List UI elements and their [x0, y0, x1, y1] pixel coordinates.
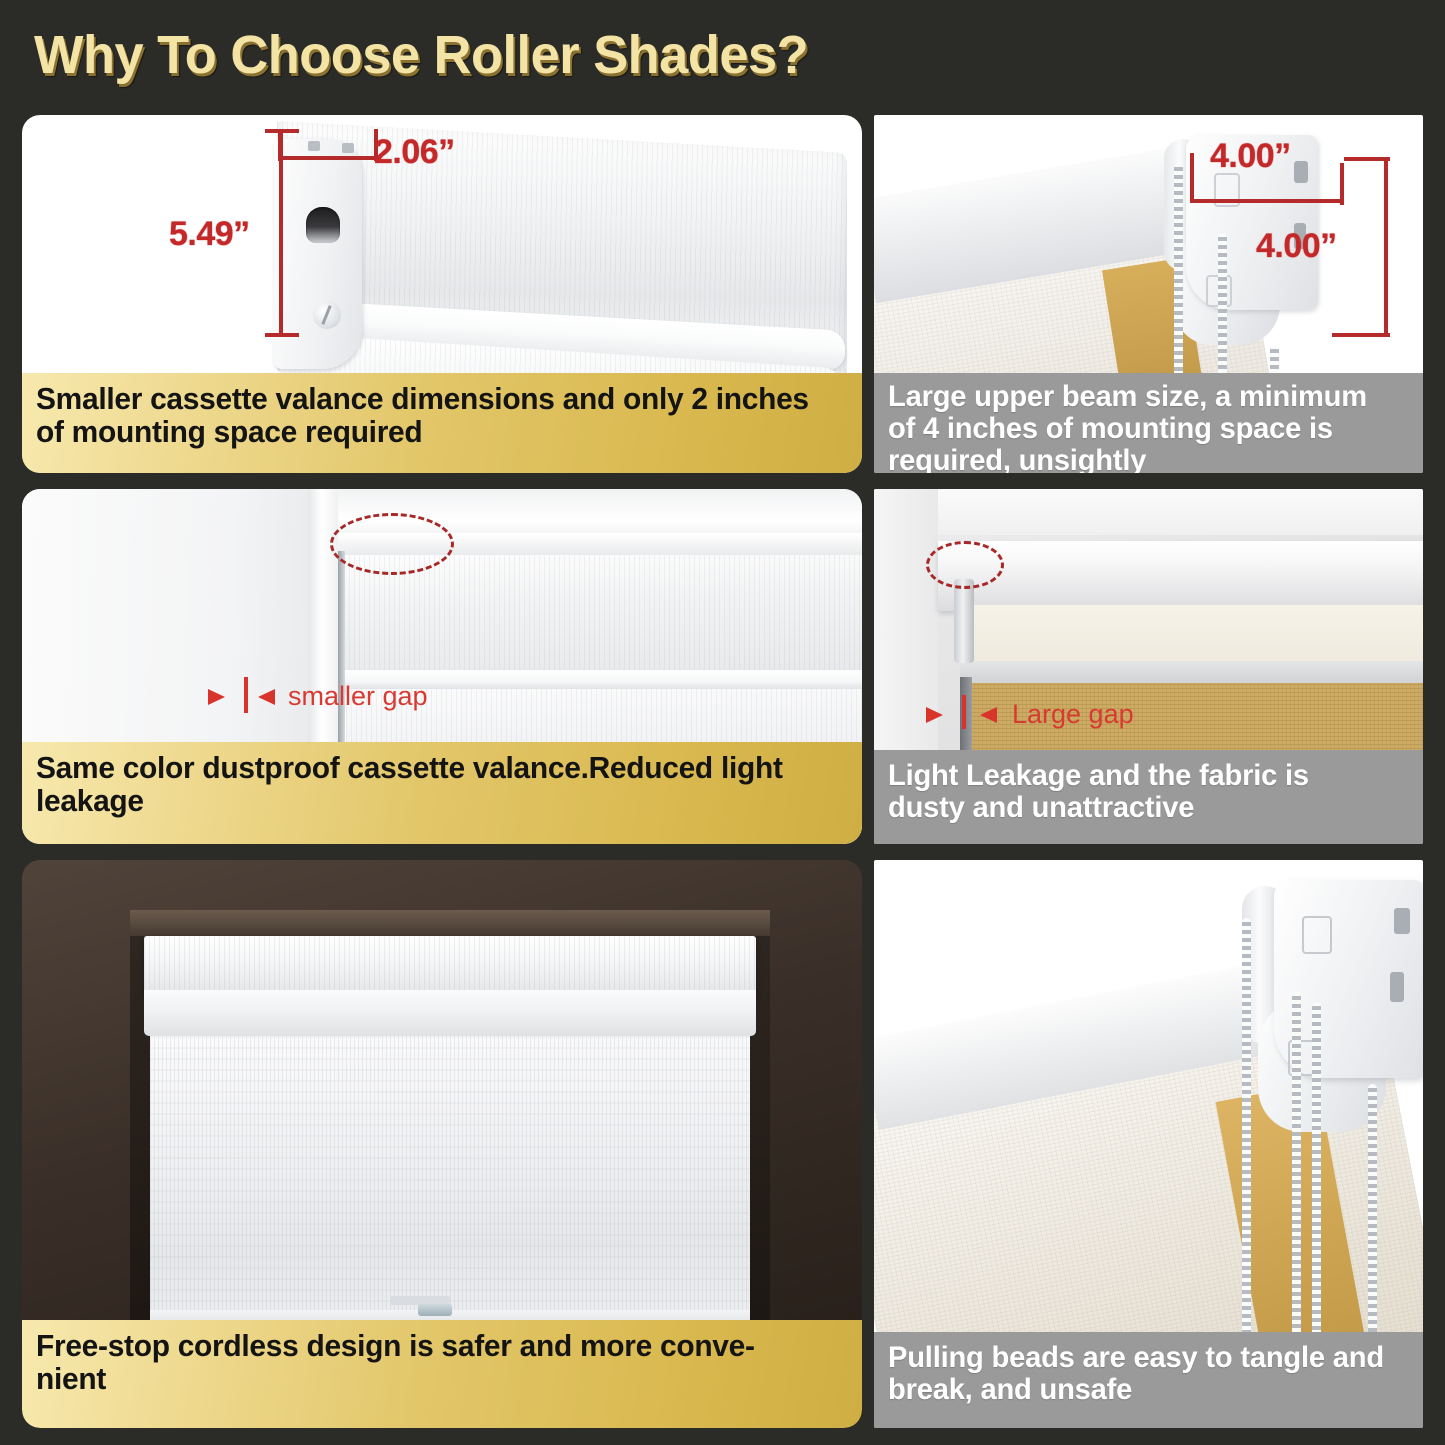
height-tick-top — [265, 129, 299, 133]
gap-arrow-right — [980, 707, 997, 723]
gap-arrow-left — [926, 707, 943, 723]
beam-width-tick-left — [1190, 153, 1194, 203]
gap-highlight-circle — [926, 541, 1004, 589]
gap-measure-bar — [244, 677, 248, 713]
gap-arrow-left — [208, 689, 225, 705]
beam-height-tick-bottom — [1332, 333, 1390, 337]
beam-width-line — [1192, 199, 1344, 203]
panel-pulling-beads[interactable]: Pulling beads are easy to tangle and bre… — [874, 860, 1423, 1428]
panel-free-stop-cordless[interactable]: Free-stop cordless design is safer and m… — [22, 860, 862, 1428]
height-tick-bottom — [265, 333, 299, 337]
panel-5-caption: Free-stop cordless design is safer and m… — [22, 1320, 862, 1428]
panel-2-caption-text: Large upper beam size, a minimum of 4 in… — [888, 381, 1393, 473]
panel-dustproof-cassette-valance[interactable]: smaller gap Same color dustproof cassett… — [22, 489, 862, 844]
gap-arrow-right — [258, 689, 275, 705]
beam-width-tick-right — [1340, 163, 1344, 205]
beam-height-line — [1384, 159, 1388, 337]
panel-1-caption-text: Smaller cassette valance dimensions and … — [36, 383, 820, 449]
panel-smaller-cassette-valance[interactable]: 2.06” 5.49” Smaller cassette valance dim… — [22, 115, 862, 473]
panel-6-caption-text: Pulling beads are easy to tangle and bre… — [888, 1342, 1393, 1406]
panel-1-caption: Smaller cassette valance dimensions and … — [22, 373, 862, 473]
height-dimension-line — [279, 131, 283, 337]
beam-height-label: 4.00” — [1256, 227, 1337, 266]
panel-3-caption-text: Same color dustproof cassette valance.Re… — [36, 752, 820, 818]
panel-5-caption-line1: Free-stop cordless design is safer and m… — [36, 1330, 820, 1363]
panel-4-caption: Light Leakage and the fabric is dusty an… — [874, 750, 1423, 844]
gap-highlight-circle — [330, 513, 454, 575]
gap-measure-bar — [962, 695, 966, 729]
panel-5-caption-line2: nient — [36, 1363, 820, 1396]
bead-chain-2 — [1292, 992, 1301, 1388]
smaller-gap-label: smaller gap — [288, 681, 428, 712]
bead-chain-1 — [1242, 918, 1251, 1388]
beam-width-label: 4.00” — [1210, 137, 1291, 176]
bead-chain-3 — [1312, 1002, 1321, 1388]
panel-4-caption-text: Light Leakage and the fabric is dusty an… — [888, 760, 1393, 824]
panel-large-upper-beam[interactable]: 4.00” 4.00” Large upper beam size, a min… — [874, 115, 1423, 473]
panel-light-leakage[interactable]: Large gap Light Leakage and the fabric i… — [874, 489, 1423, 844]
beam-height-tick-top — [1344, 157, 1390, 161]
panel-3-caption: Same color dustproof cassette valance.Re… — [22, 742, 862, 844]
width-dimension-line — [280, 156, 378, 160]
page-title: Why To Choose Roller Shades? — [34, 24, 808, 86]
width-dimension-label: 2.06” — [374, 133, 455, 172]
height-dimension-label: 5.49” — [169, 215, 250, 254]
large-gap-label: Large gap — [1012, 699, 1134, 730]
panel-6-caption: Pulling beads are easy to tangle and bre… — [874, 1332, 1423, 1428]
panel-2-caption: Large upper beam size, a minimum of 4 in… — [874, 373, 1423, 473]
